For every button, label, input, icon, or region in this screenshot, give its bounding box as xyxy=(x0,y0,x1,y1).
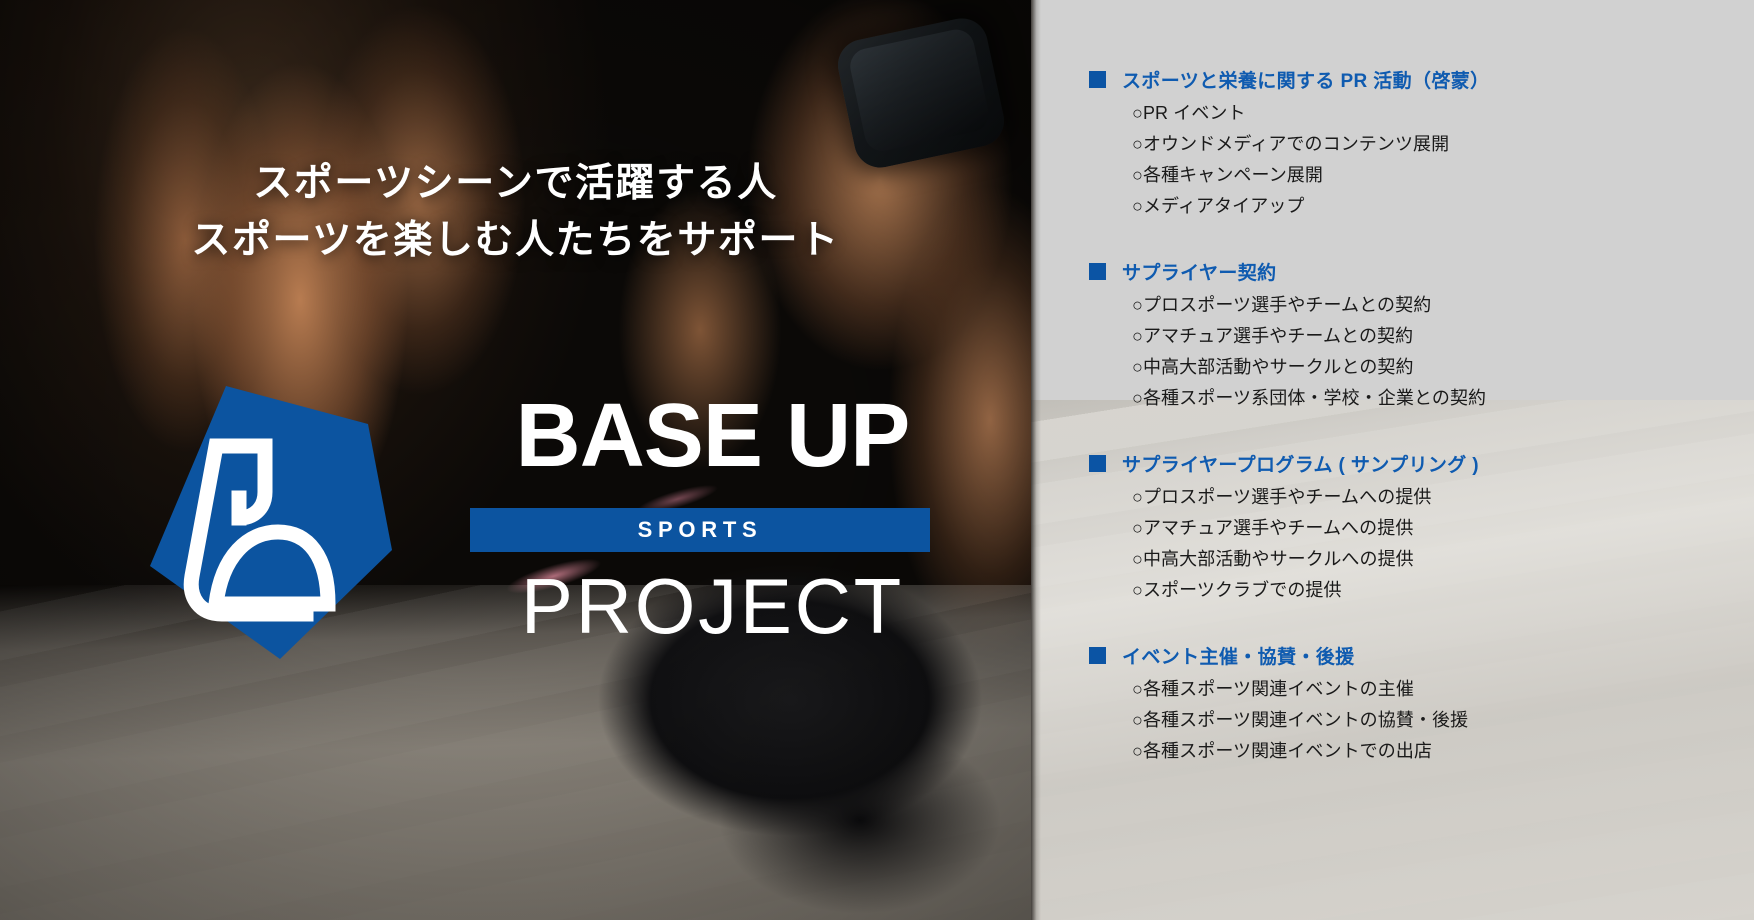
info-section-items: ○PR イベント ○オウンドメディアでのコンテンツ展開 ○各種キャンペーン展開 … xyxy=(1089,98,1749,222)
list-item: ○各種キャンペーン展開 xyxy=(1132,160,1749,191)
list-item: ○PR イベント xyxy=(1132,98,1749,129)
logo-sports-badge: SPORTS xyxy=(470,508,930,552)
info-section-title: サプライヤー契約 xyxy=(1122,258,1276,285)
list-item: ○アマチュア選手やチームとの契約 xyxy=(1132,321,1749,352)
list-item: ○プロスポーツ選手やチームへの提供 xyxy=(1132,482,1749,513)
logo-lockup: BASE UP SPORTS PROJECT xyxy=(130,380,960,680)
list-item: ○プロスポーツ選手やチームとの契約 xyxy=(1132,290,1749,321)
list-item: ○中高大部活動やサークルとの契約 xyxy=(1132,352,1749,383)
square-bullet-icon xyxy=(1089,263,1106,280)
square-bullet-icon xyxy=(1089,647,1106,664)
logo-wordmark-secondary: PROJECT xyxy=(465,562,960,650)
list-item: ○メディアタイアップ xyxy=(1132,191,1749,222)
hero-photo-panel: スポーツシーンで活躍する人 スポーツを楽しむ人たちをサポート BASE UP S… xyxy=(0,0,1031,920)
list-item: ○オウンドメディアでのコンテンツ展開 xyxy=(1132,129,1749,160)
info-section: スポーツと栄養に関する PR 活動（啓蒙） ○PR イベント ○オウンドメディア… xyxy=(1089,66,1749,222)
info-section-items: ○プロスポーツ選手やチームとの契約 ○アマチュア選手やチームとの契約 ○中高大部… xyxy=(1089,290,1749,414)
info-section-items: ○プロスポーツ選手やチームへの提供 ○アマチュア選手やチームへの提供 ○中高大部… xyxy=(1089,482,1749,606)
info-section: サプライヤープログラム ( サンプリング ) ○プロスポーツ選手やチームへの提供… xyxy=(1089,450,1749,606)
square-bullet-icon xyxy=(1089,71,1106,88)
logo-wordmark-primary: BASE UP xyxy=(465,388,960,484)
square-bullet-icon xyxy=(1089,455,1106,472)
info-section: イベント主催・協賛・後援 ○各種スポーツ関連イベントの主催 ○各種スポーツ関連イ… xyxy=(1089,642,1749,767)
headline-line-1: スポーツシーンで活躍する人 xyxy=(0,155,1031,212)
list-item: ○各種スポーツ関連イベントの協賛・後援 xyxy=(1132,705,1749,736)
info-panel-content: スポーツと栄養に関する PR 活動（啓蒙） ○PR イベント ○オウンドメディア… xyxy=(1031,0,1754,920)
list-item: ○アマチュア選手やチームへの提供 xyxy=(1132,513,1749,544)
info-panel: スポーツと栄養に関する PR 活動（啓蒙） ○PR イベント ○オウンドメディア… xyxy=(1031,0,1754,920)
slide-root: スポーツシーンで活躍する人 スポーツを楽しむ人たちをサポート BASE UP S… xyxy=(0,0,1754,920)
headline-line-2: スポーツを楽しむ人たちをサポート xyxy=(0,212,1031,269)
info-section-header: スポーツと栄養に関する PR 活動（啓蒙） xyxy=(1089,66,1749,93)
list-item: ○中高大部活動やサークルへの提供 xyxy=(1132,544,1749,575)
info-section-header: サプライヤープログラム ( サンプリング ) xyxy=(1089,450,1749,477)
base-up-flexed-arm-logo-icon xyxy=(130,380,400,665)
logo-sports-badge-label: SPORTS xyxy=(638,517,763,543)
list-item: ○各種スポーツ系団体・学校・企業との契約 xyxy=(1132,383,1749,414)
list-item: ○各種スポーツ関連イベントの主催 xyxy=(1132,674,1749,705)
info-section-items: ○各種スポーツ関連イベントの主催 ○各種スポーツ関連イベントの協賛・後援 ○各種… xyxy=(1089,674,1749,767)
info-section-header: イベント主催・協賛・後援 xyxy=(1089,642,1749,669)
info-section-header: サプライヤー契約 xyxy=(1089,258,1749,285)
list-item: ○各種スポーツ関連イベントでの出店 xyxy=(1132,736,1749,767)
list-item: ○スポーツクラブでの提供 xyxy=(1132,575,1749,606)
hero-headline: スポーツシーンで活躍する人 スポーツを楽しむ人たちをサポート xyxy=(0,155,1031,269)
info-section: サプライヤー契約 ○プロスポーツ選手やチームとの契約 ○アマチュア選手やチームと… xyxy=(1089,258,1749,414)
info-section-title: スポーツと栄養に関する PR 活動（啓蒙） xyxy=(1122,66,1490,93)
info-section-title: イベント主催・協賛・後援 xyxy=(1122,642,1355,669)
info-section-title: サプライヤープログラム ( サンプリング ) xyxy=(1122,450,1479,477)
